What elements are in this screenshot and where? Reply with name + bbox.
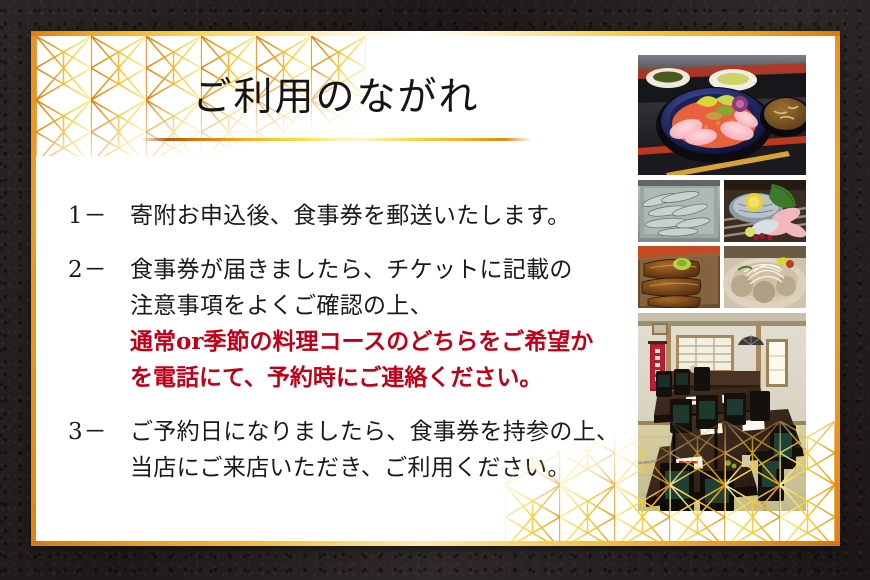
seafood-grid-photo: [638, 180, 806, 308]
kaisendon-set-photo: [638, 55, 806, 175]
step-text: 食事券が届きましたら、チケットに記載の 注意事項をよくご確認の上、 通常or季節…: [130, 252, 647, 396]
step-line-emphasis: 通常or季節の料理コースのどちらをご希望か: [130, 324, 647, 360]
title-block: ご利用のながれ: [36, 78, 636, 141]
step-line: ご予約日になりましたら、食事券を持参の上、: [130, 414, 647, 450]
step-number: 1－: [62, 198, 130, 234]
steps-list: 1－ 寄附お申込後、食事券を郵送いたします。 2－ 食事券が届きましたら、チケッ…: [62, 198, 647, 504]
list-item: 2－ 食事券が届きましたら、チケットに記載の 注意事項をよくご確認の上、 通常o…: [62, 252, 647, 396]
tatami-dining-room-photo: [638, 313, 806, 511]
page-title: ご利用のながれ: [36, 78, 636, 117]
list-item: 3－ ご予約日になりましたら、食事券を持参の上、 当店にご来店いただき、ご利用く…: [62, 414, 647, 486]
step-line: 寄附お申込後、食事券を郵送いたします。: [130, 198, 647, 234]
step-text: 寄附お申込後、食事券を郵送いたします。: [130, 198, 647, 234]
photo-column: [638, 55, 806, 516]
step-line: 当店にご来店いただき、ご利用ください。: [130, 450, 647, 486]
poster-body: ご利用のながれ 1－ 寄附お申込後、食事券を郵送いたします。 2－ 食事券が届き…: [36, 36, 835, 541]
step-line: 食事券が届きましたら、チケットに記載の: [130, 252, 647, 288]
list-item: 1－ 寄附お申込後、食事券を郵送いたします。: [62, 198, 647, 234]
step-text: ご予約日になりましたら、食事券を持参の上、 当店にご来店いただき、ご利用ください…: [130, 414, 647, 486]
step-line: 注意事項をよくご確認の上、: [130, 288, 647, 324]
step-number: 3－: [62, 414, 130, 450]
title-underline-rule: [140, 138, 532, 141]
poster-canvas: ご利用のながれ 1－ 寄附お申込後、食事券を郵送いたします。 2－ 食事券が届き…: [0, 0, 870, 580]
gold-frame: ご利用のながれ 1－ 寄附お申込後、食事券を郵送いたします。 2－ 食事券が届き…: [31, 31, 840, 546]
step-line-emphasis: を電話にて、予約時にご連絡ください。: [130, 360, 647, 396]
step-number: 2－: [62, 252, 130, 288]
